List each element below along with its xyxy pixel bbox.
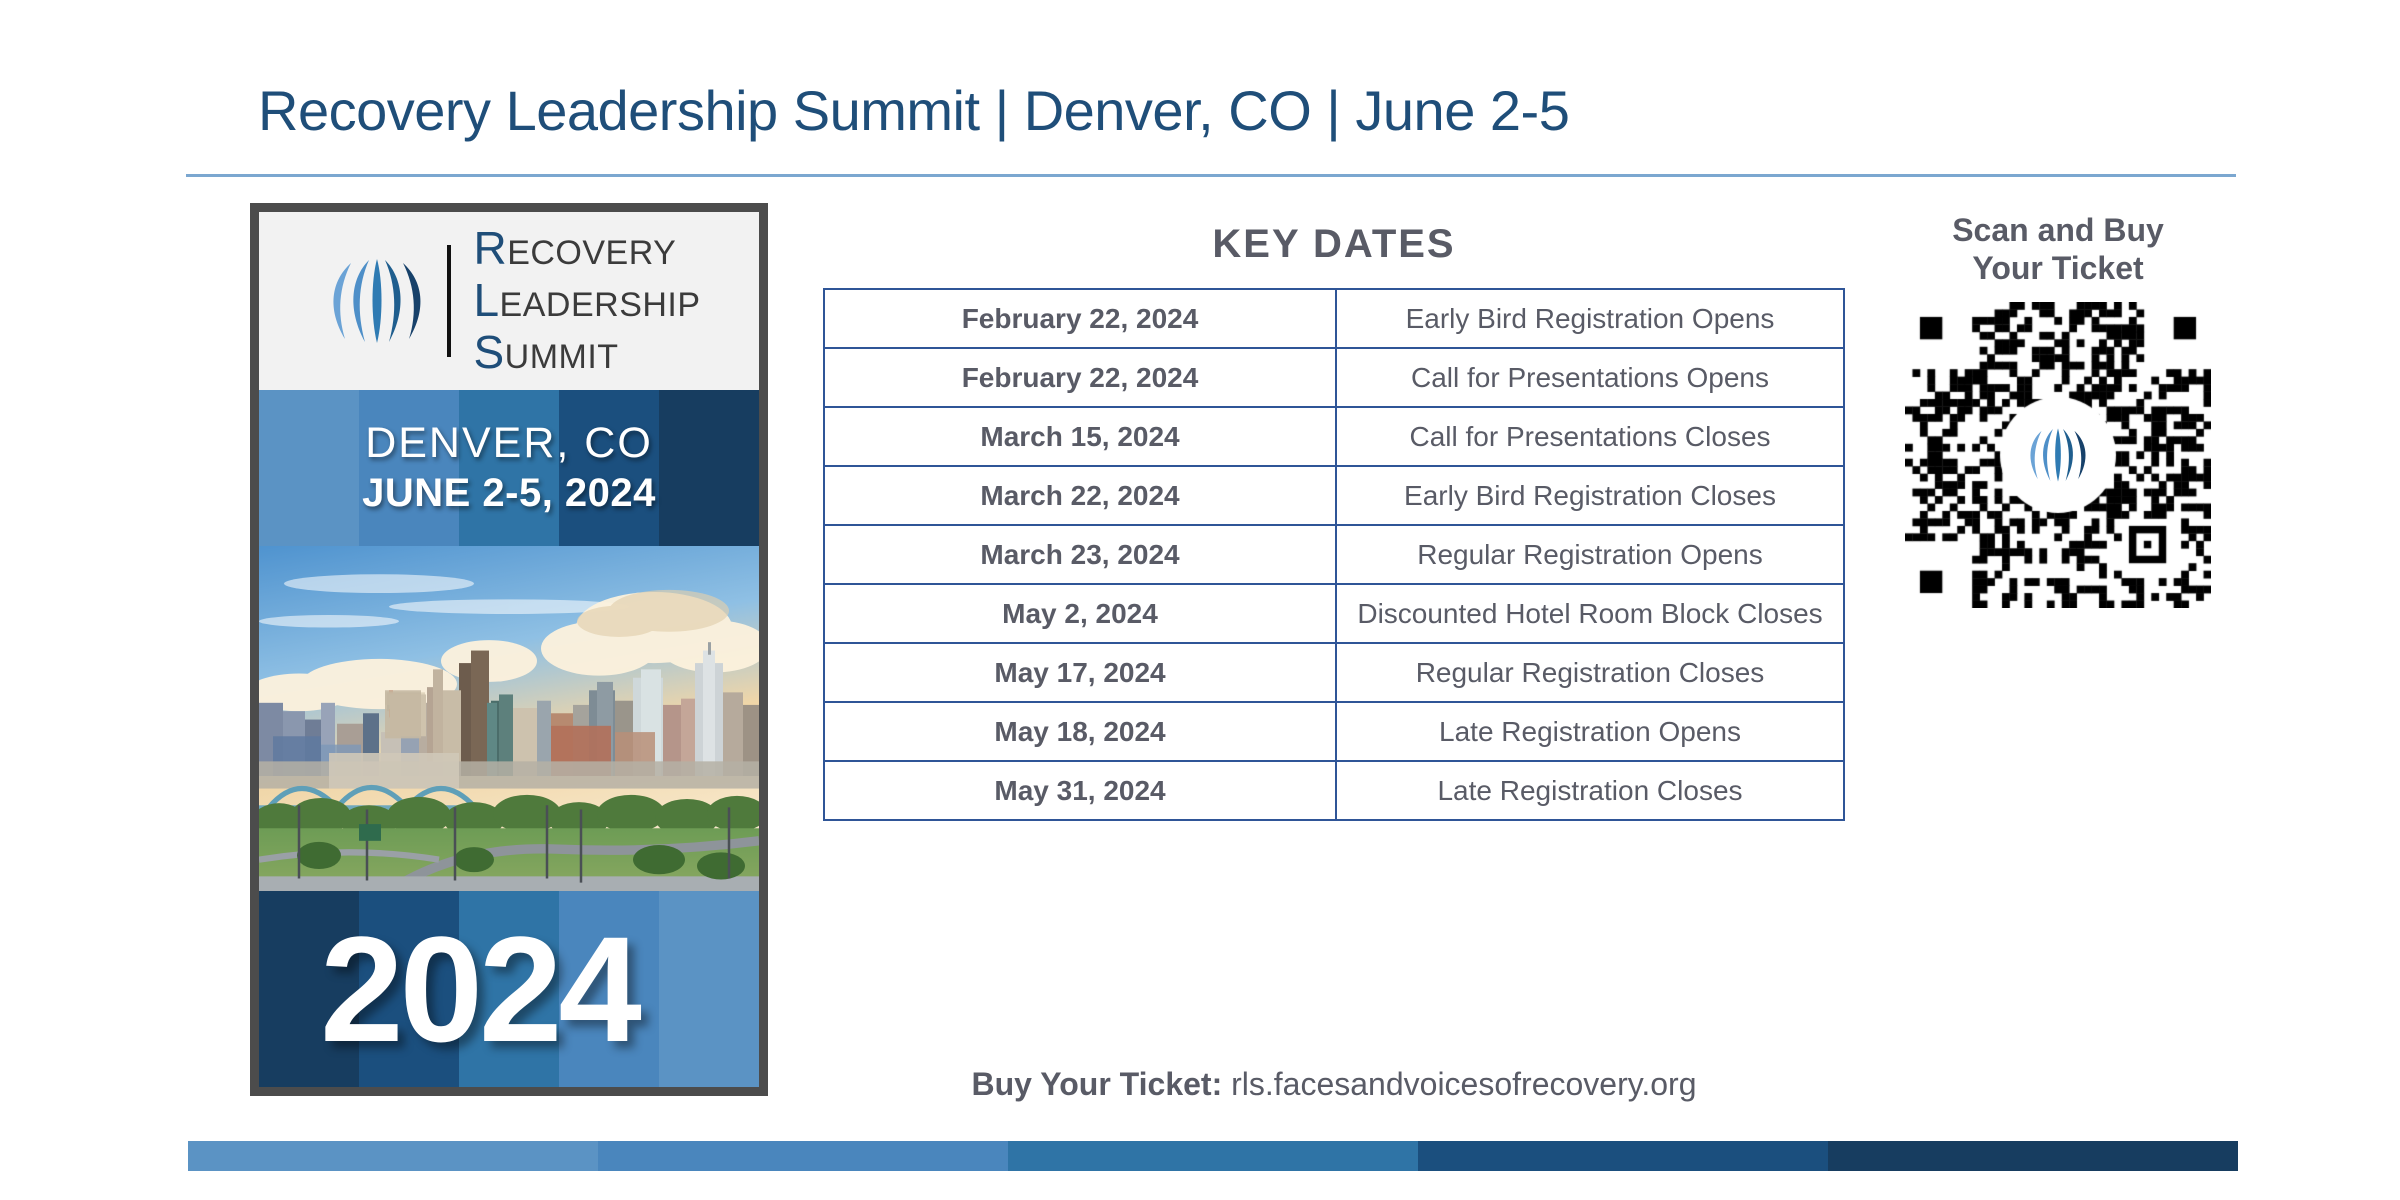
key-event-cell: Late Registration Closes: [1336, 761, 1844, 820]
key-event-cell: Early Bird Registration Opens: [1336, 289, 1844, 348]
table-row: May 17, 2024Regular Registration Closes: [824, 643, 1844, 702]
color-band-4: [1418, 1141, 1828, 1171]
key-event-cell: Regular Registration Closes: [1336, 643, 1844, 702]
year-banner: 2024: [259, 891, 759, 1087]
table-row: February 22, 2024Early Bird Registration…: [824, 289, 1844, 348]
key-event-cell: Call for Presentations Closes: [1336, 407, 1844, 466]
color-band-1: [188, 1141, 598, 1171]
table-row: May 31, 2024Late Registration Closes: [824, 761, 1844, 820]
key-date-cell: March 23, 2024: [824, 525, 1336, 584]
key-date-cell: February 22, 2024: [824, 348, 1336, 407]
table-row: March 22, 2024Early Bird Registration Cl…: [824, 466, 1844, 525]
key-event-cell: Early Bird Registration Closes: [1336, 466, 1844, 525]
key-dates-table: February 22, 2024Early Bird Registration…: [823, 288, 1845, 821]
key-date-cell: May 31, 2024: [824, 761, 1336, 820]
page-title: Recovery Leadership Summit | Denver, CO …: [258, 78, 1569, 143]
table-row: May 2, 2024Discounted Hotel Room Block C…: [824, 584, 1844, 643]
denver-skyline-photo: [259, 546, 759, 891]
event-promo-panel: RECOVERY LEADERSHIP SUMMIT DENVER, CO JU…: [250, 203, 768, 1096]
key-date-cell: May 17, 2024: [824, 643, 1336, 702]
logo-word-summit: SUMMIT: [473, 327, 700, 379]
key-date-cell: February 22, 2024: [824, 289, 1336, 348]
header-divider: [186, 174, 2236, 177]
buy-ticket-label: Buy Your Ticket:: [971, 1066, 1222, 1102]
logo-word-recovery: RECOVERY: [473, 223, 700, 275]
key-date-cell: May 2, 2024: [824, 584, 1336, 643]
denver-dates-label: JUNE 2-5, 2024: [362, 469, 656, 517]
key-date-cell: March 22, 2024: [824, 466, 1336, 525]
logo-word-leadership: LEADERSHIP: [473, 275, 700, 327]
key-event-cell: Late Registration Opens: [1336, 702, 1844, 761]
qr-caption-line-1: Scan and Buy: [1893, 212, 2223, 250]
qr-caption: Scan and Buy Your Ticket: [1893, 212, 2223, 288]
table-row: February 22, 2024Call for Presentations …: [824, 348, 1844, 407]
year-label: 2024: [259, 891, 759, 1087]
key-dates-heading: KEY DATES: [823, 222, 1845, 267]
qr-center-logo: [2004, 401, 2112, 509]
denver-banner-text: DENVER, CO JUNE 2-5, 2024: [259, 390, 759, 546]
logo-wordmark: RECOVERY LEADERSHIP SUMMIT: [473, 223, 700, 379]
key-event-cell: Discounted Hotel Room Block Closes: [1336, 584, 1844, 643]
key-event-cell: Call for Presentations Opens: [1336, 348, 1844, 407]
rls-logo-tile: RECOVERY LEADERSHIP SUMMIT: [259, 212, 759, 390]
buy-ticket-url[interactable]: rls.facesandvoicesofrecovery.org: [1231, 1066, 1696, 1102]
key-event-cell: Regular Registration Opens: [1336, 525, 1844, 584]
key-date-cell: May 18, 2024: [824, 702, 1336, 761]
color-band-3: [1008, 1141, 1418, 1171]
color-band-2: [598, 1141, 1008, 1171]
denver-location-banner: DENVER, CO JUNE 2-5, 2024: [259, 390, 759, 546]
qr-code[interactable]: [1905, 302, 2211, 608]
table-row: May 18, 2024Late Registration Opens: [824, 702, 1844, 761]
qr-block: Scan and Buy Your Ticket: [1893, 212, 2223, 608]
table-row: March 23, 2024Regular Registration Opens: [824, 525, 1844, 584]
color-band-5: [1828, 1141, 2238, 1171]
rls-globe-logo-icon: [317, 251, 437, 351]
key-date-cell: March 15, 2024: [824, 407, 1336, 466]
buy-ticket-line: Buy Your Ticket: rls.facesandvoicesofrec…: [823, 1066, 1845, 1103]
logo-vertical-rule: [447, 245, 451, 357]
denver-city-label: DENVER, CO: [365, 419, 653, 468]
qr-caption-line-2: Your Ticket: [1893, 250, 2223, 288]
footer-color-bar: [188, 1141, 2238, 1171]
rls-globe-logo-icon: [2020, 422, 2096, 488]
table-row: March 15, 2024Call for Presentations Clo…: [824, 407, 1844, 466]
